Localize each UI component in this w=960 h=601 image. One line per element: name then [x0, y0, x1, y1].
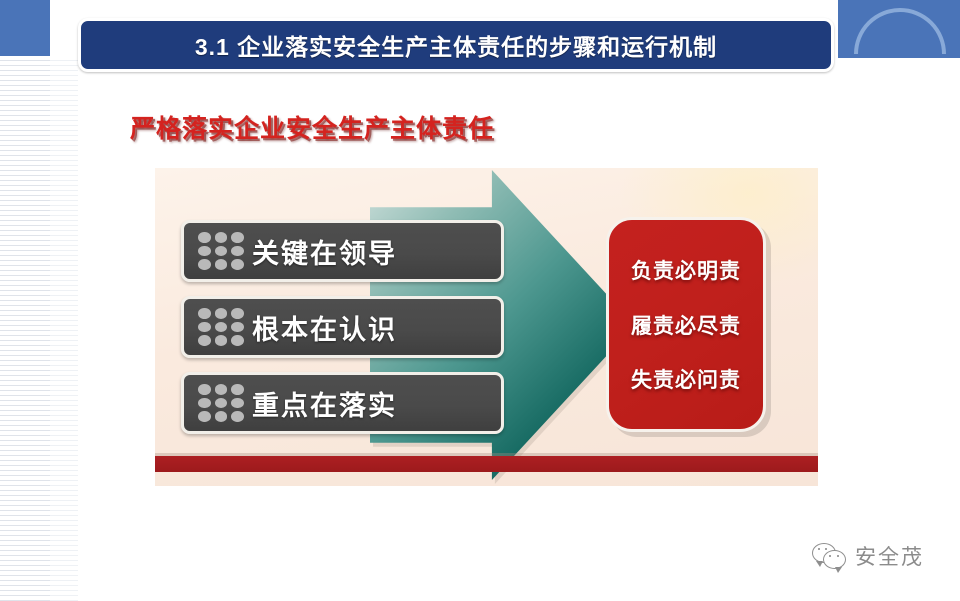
diagram-step-label-3: 重点在落实	[252, 384, 397, 423]
diagram-panel: 关键在领导 根本在认识 重点在落实 负责必明责 履责必尽责 失责必问责	[155, 168, 818, 486]
slide-title-bar: 3.1 企业落实安全生产主体责任的步骤和运行机制	[78, 18, 834, 72]
diagram-step-box-1: 关键在领导	[181, 220, 504, 282]
dot-grid-icon	[198, 308, 244, 346]
diagram-step-label-2: 根本在认识	[252, 308, 397, 347]
arc-decoration-icon	[854, 8, 946, 58]
page-title: 3.1 企业落实安全生产主体责任的步骤和运行机制	[195, 28, 717, 62]
watermark-text: 安全茂	[855, 541, 924, 571]
arc-mask	[848, 54, 954, 58]
result-card: 负责必明责 履责必尽责 失责必问责	[606, 217, 766, 432]
left-stripe-decoration	[0, 56, 50, 601]
left-stripe-decoration-secondary	[50, 56, 78, 601]
left-blue-accent-block	[0, 0, 50, 56]
slide-subtitle: 严格落实企业安全生产主体责任	[130, 109, 494, 145]
dot-grid-icon	[198, 384, 244, 422]
diagram-step-label-1: 关键在领导	[252, 232, 397, 271]
panel-red-bar	[155, 456, 818, 472]
result-card-line-2: 履责必尽责	[631, 310, 741, 340]
wechat-icon	[812, 543, 846, 569]
diagram-step-box-2: 根本在认识	[181, 296, 504, 358]
result-card-line-3: 失责必问责	[631, 364, 741, 394]
diagram-step-box-3: 重点在落实	[181, 372, 504, 434]
slide-canvas: 3.1 企业落实安全生产主体责任的步骤和运行机制 严格落实企业安全生产主体责任 …	[0, 0, 960, 601]
watermark: 安全茂	[812, 541, 924, 571]
dot-grid-icon	[198, 232, 244, 270]
result-card-line-1: 负责必明责	[631, 255, 741, 285]
top-right-blue-block	[838, 0, 960, 58]
